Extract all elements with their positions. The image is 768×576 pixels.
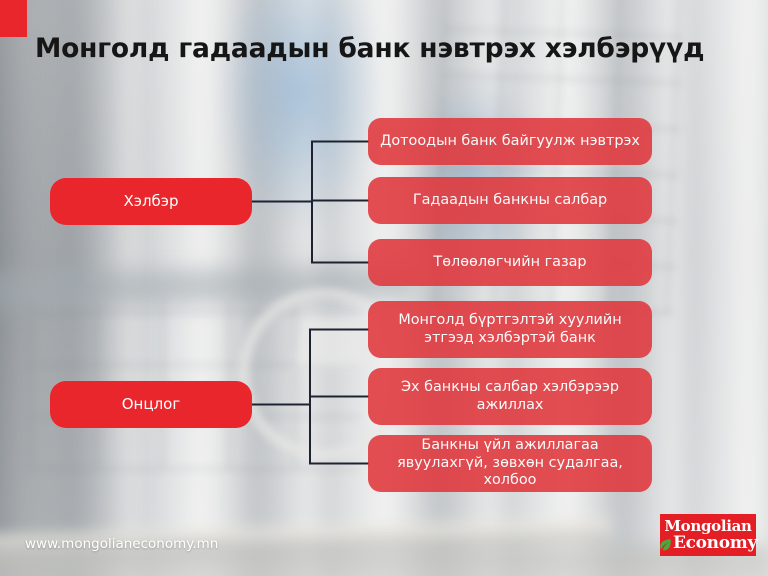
parent-node-ontslog-label: Онцлог: [122, 395, 180, 413]
child-node-2-3[interactable]: Банкны үйл ажиллагаа явуулахгүй, зөвхөн …: [368, 435, 652, 492]
website-url: www.mongolianeconomy.mn: [25, 536, 218, 552]
child-node-1-3[interactable]: Төлөөлөгчийн газар: [368, 239, 652, 286]
parent-node-helber-label: Хэлбэр: [123, 192, 178, 210]
parent-node-ontslog[interactable]: Онцлог: [50, 381, 252, 428]
parent-node-helber[interactable]: Хэлбэр: [50, 178, 252, 225]
leaf-icon: [659, 538, 672, 551]
child-node-2-3-label: Банкны үйл ажиллагаа явуулахгүй, зөвхөн …: [380, 437, 640, 490]
child-node-1-1-label: Дотоодын банк байгуулж нэвтрэх: [380, 133, 640, 151]
child-node-2-1[interactable]: Монголд бүртгэлтэй хуулийн этгээд хэлбэр…: [368, 301, 652, 358]
brand-logo: Mongolian Economy: [660, 514, 756, 556]
child-node-1-2[interactable]: Гадаадын банкны салбар: [368, 177, 652, 224]
slide-canvas: Монголд гадаадын банк нэвтрэх хэлбэрүүд …: [0, 0, 768, 576]
child-node-1-1[interactable]: Дотоодын банк байгуулж нэвтрэх: [368, 118, 652, 165]
page-title: Монголд гадаадын банк нэвтрэх хэлбэрүүд: [35, 33, 704, 64]
accent-tab: [0, 0, 27, 37]
child-node-1-3-label: Төлөөлөгчийн газар: [433, 254, 586, 272]
brand-logo-line2: Economy: [673, 535, 757, 552]
child-node-1-2-label: Гадаадын банкны салбар: [413, 192, 607, 210]
child-node-2-1-label: Монголд бүртгэлтэй хуулийн этгээд хэлбэр…: [380, 312, 640, 347]
brand-logo-line1: Mongolian: [664, 519, 751, 534]
brand-logo-line2-row: Economy: [659, 535, 757, 552]
child-node-2-2[interactable]: Эх банкны салбар хэлбэрээр ажиллах: [368, 368, 652, 425]
child-node-2-2-label: Эх банкны салбар хэлбэрээр ажиллах: [380, 379, 640, 414]
